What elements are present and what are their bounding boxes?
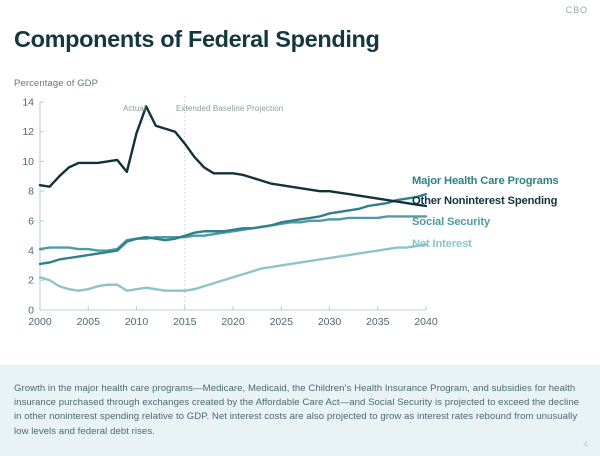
y-axis-tick-label: 14 xyxy=(22,96,34,108)
caption-panel: Growth in the major health care programs… xyxy=(0,365,600,456)
cbo-logo: CBO xyxy=(566,5,588,15)
x-axis-tick-label: 2040 xyxy=(414,316,438,328)
x-axis-tick-label: 2015 xyxy=(173,316,197,328)
page-title: Components of Federal Spending xyxy=(14,26,380,53)
legend-item-net-interest: Net Interest xyxy=(412,239,598,250)
legend-item-major-health-care-programs: Major Health Care Programs xyxy=(412,176,598,187)
x-axis-tick-label: 2005 xyxy=(77,316,101,328)
annotation-actual: Actual xyxy=(123,104,146,113)
y-axis-tick-label: 8 xyxy=(28,186,34,198)
x-axis-tick-label: 2035 xyxy=(366,316,390,328)
page-number: 4 xyxy=(584,440,588,449)
y-axis-tick-label: 0 xyxy=(28,304,34,316)
x-axis-tick-label: 2010 xyxy=(125,316,149,328)
y-axis-tick-label: 2 xyxy=(28,275,34,287)
legend-item-other-noninterest-spending: Other Noninterest Spending xyxy=(412,196,598,207)
x-axis-tick-label: 2000 xyxy=(28,316,52,328)
slide-root: CBO Components of Federal Spending Perce… xyxy=(0,0,600,456)
x-axis-tick-label: 2030 xyxy=(318,316,342,328)
y-axis-tick-label: 12 xyxy=(22,126,34,138)
x-axis-tick-label: 2020 xyxy=(221,316,245,328)
series-line xyxy=(40,106,426,206)
chart-svg: 0246810121420002005201020152020202520302… xyxy=(14,96,434,336)
series-line xyxy=(40,194,426,264)
annotation-projection: Extended Baseline Projection xyxy=(176,104,283,113)
chart-plot-area: 0246810121420002005201020152020202520302… xyxy=(14,96,434,336)
series-line xyxy=(40,216,426,250)
y-axis-tick-label: 6 xyxy=(28,215,34,227)
caption-text: Growth in the major health care programs… xyxy=(14,382,586,439)
y-axis-tick-label: 10 xyxy=(22,156,34,168)
x-axis-tick-label: 2025 xyxy=(270,316,294,328)
y-axis-unit-label: Percentage of GDP xyxy=(14,78,98,89)
y-axis-tick-label: 4 xyxy=(28,245,34,257)
legend-item-social-security: Social Security xyxy=(412,217,598,228)
chart-legend: Major Health Care Programs Other Noninte… xyxy=(412,176,598,250)
